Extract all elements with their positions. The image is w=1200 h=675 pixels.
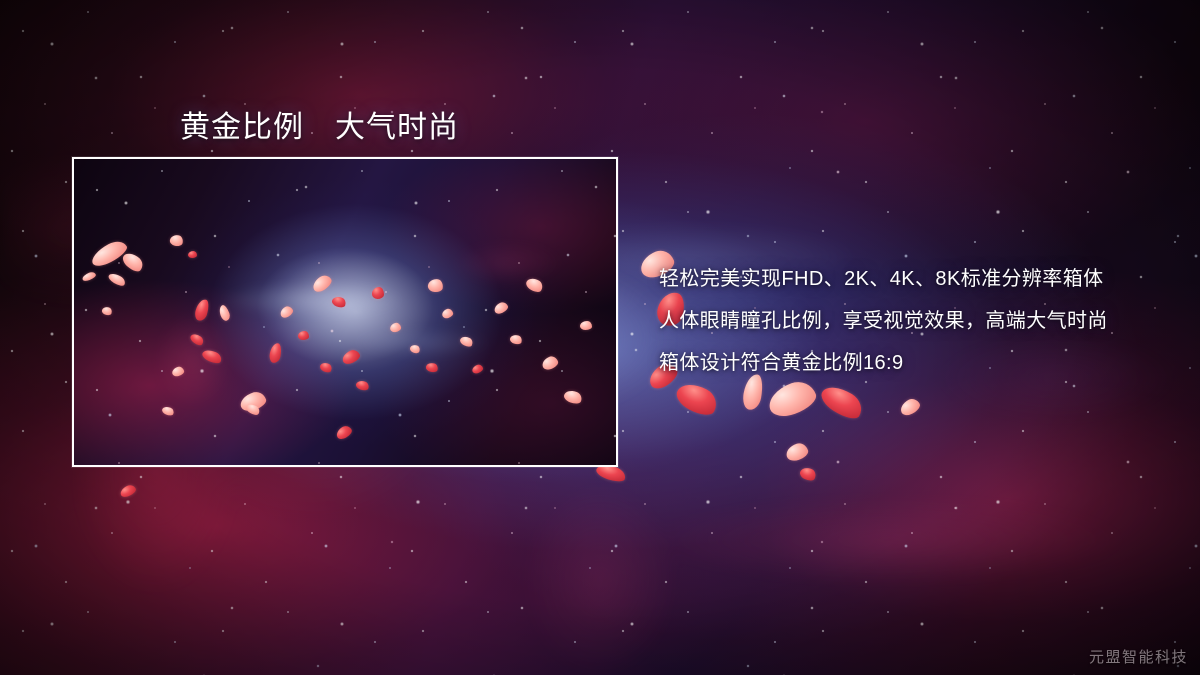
- petal-icon: [580, 321, 592, 330]
- page-title: 黄金比例 大气时尚: [180, 102, 459, 146]
- watermark: 元盟智能科技: [1089, 646, 1188, 667]
- body-line-3: 箱体设计符合黄金比例16:9: [659, 342, 1179, 384]
- presentation-slide: 黄金比例 大气时尚 轻松完美实现FHD、2K、4K、8K标准分辨率箱体 人体眼睛…: [0, 0, 1200, 675]
- petal-icon: [298, 331, 309, 340]
- frame-starfield-medium-icon: [74, 159, 616, 465]
- body-line-1: 轻松完美实现FHD、2K、4K、8K标准分辨率箱体: [659, 258, 1179, 300]
- petal-icon: [372, 287, 384, 299]
- body-line-2: 人体眼睛瞳孔比例，享受视觉效果，高端大气时尚: [659, 300, 1179, 342]
- image-frame: [72, 157, 618, 467]
- petal-icon: [188, 251, 197, 258]
- body-text-block: 轻松完美实现FHD、2K、4K、8K标准分辨率箱体 人体眼睛瞳孔比例，享受视觉效…: [659, 258, 1179, 384]
